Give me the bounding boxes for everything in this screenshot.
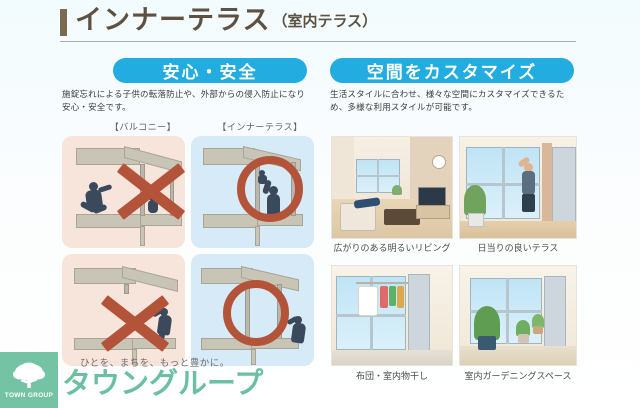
diagram-panel-terrace-child-safe	[191, 136, 314, 248]
sliding-door	[552, 147, 576, 227]
futon	[358, 286, 378, 316]
title-main-text: インナーテラス	[75, 6, 270, 36]
sliding-door	[408, 274, 430, 354]
window-mullion-h	[356, 175, 400, 177]
brochure-page: インナーテラス （室内テラス） 安心・安全 施錠忘れによる子供の転落防止や、外部…	[0, 0, 640, 408]
floor	[332, 350, 452, 366]
large-plant	[474, 306, 500, 340]
drying-pole	[356, 282, 408, 284]
title-accent-bar	[60, 9, 67, 36]
laundry-yellow	[397, 286, 404, 308]
large-plant-pot	[478, 336, 496, 350]
tv-stand	[416, 205, 450, 219]
adult-arm	[98, 184, 113, 193]
x-mark-icon	[114, 154, 185, 228]
diagram-panel-balcony-child-fall	[62, 136, 185, 248]
sliding-door	[544, 276, 566, 356]
page-title: インナーテラス （室内テラス）	[60, 6, 580, 50]
photo-caption-sunny-terrace: 日当りの良いテラス	[455, 241, 581, 254]
photo-laundry-drying	[331, 265, 453, 366]
diagram-label-balcony: 【バルコニー】	[88, 120, 198, 133]
intruder-torso	[291, 322, 307, 344]
diagram-panel-balcony-intruder	[62, 254, 185, 366]
o-mark-icon	[223, 280, 289, 346]
photo-living-room	[331, 136, 453, 239]
section-body-safety: 施錠忘れによる子供の転落防止や、外部からの侵入防止になり安心・安全です。	[62, 89, 312, 115]
potted-plant	[464, 185, 486, 215]
support-column	[140, 226, 145, 246]
photo-caption-laundry-drying: 布団・室内物干し	[325, 369, 459, 382]
company-logo: TOWN GROUP	[0, 352, 58, 408]
x-mark-icon	[98, 286, 172, 360]
television	[418, 187, 446, 207]
support-column	[255, 226, 260, 246]
small-pot-b	[533, 326, 543, 334]
company-brand-name: タウングループ	[62, 366, 263, 400]
support-column	[251, 349, 256, 365]
diagram-panel-terrace-no-intruder	[191, 254, 314, 366]
o-mark-icon	[237, 156, 303, 222]
person-shorts	[522, 194, 535, 212]
diagram-label-inner-terrace: 【インナーテラス】	[200, 120, 320, 133]
section-heading-customize: 空間をカスタマイズ	[330, 58, 574, 83]
wall-clock-icon	[432, 155, 446, 169]
photo-caption-living-room: 広がりのある明るいリビング	[325, 241, 459, 254]
coffee-table	[384, 209, 420, 225]
curtain	[542, 143, 552, 233]
logo-en-text: TOWN GROUP	[5, 392, 53, 399]
tree-icon	[12, 361, 46, 391]
person-torso	[522, 171, 535, 195]
photo-sunny-terrace	[459, 136, 577, 239]
photo-caption-indoor-gardening: 室内ガーデニングスペース	[452, 369, 584, 382]
small-pot-a	[518, 334, 529, 343]
laundry-red	[380, 286, 388, 308]
photo-indoor-gardening	[459, 265, 577, 366]
laundry-green	[389, 286, 396, 306]
title-sub-text: （室内テラス）	[272, 7, 377, 36]
section-heading-safety: 安心・安全	[113, 58, 307, 83]
plant-pot	[468, 213, 484, 227]
section-body-customize: 生活スタイルに合わせ、様々な空間にカスタマイズできるため、多様な利用スタイルが可…	[330, 89, 580, 115]
plant	[392, 185, 402, 195]
title-divider	[60, 41, 576, 42]
